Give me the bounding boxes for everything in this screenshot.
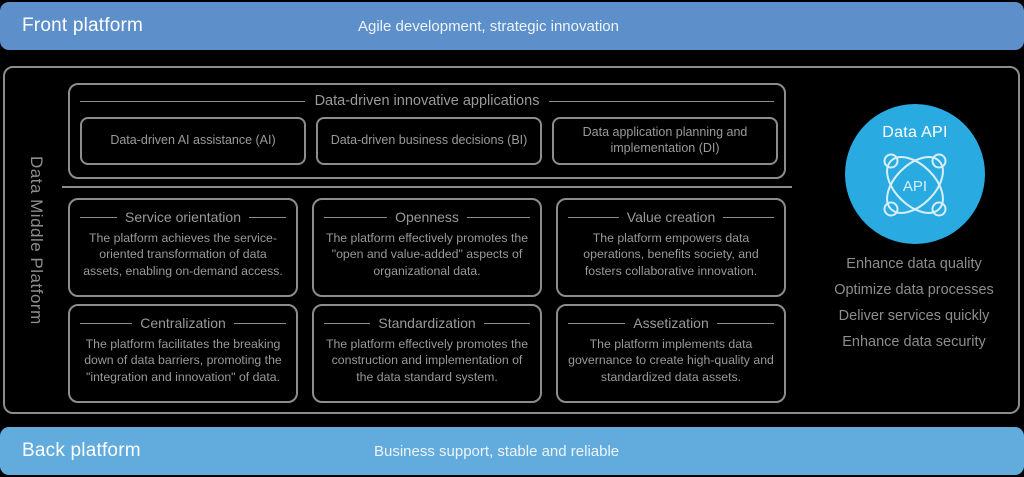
benefits-list: Enhance data quality Optimize data proce…: [800, 256, 1024, 350]
legend-rule-right: [234, 323, 286, 324]
application-card-di[interactable]: Data application planning and implementa…: [552, 117, 778, 165]
section-divider: [62, 186, 792, 188]
legend-rule-left: [80, 323, 132, 324]
front-platform-subtitle: Agile development, strategic innovation: [358, 18, 619, 35]
legend-rule-right: [467, 217, 530, 218]
legend-rule-left: [80, 101, 305, 102]
capability-description: The platform effectively promotes the co…: [324, 336, 530, 385]
capability-title: Openness: [395, 209, 459, 225]
legend-rule-left: [324, 323, 370, 324]
back-platform-title: Back platform: [0, 440, 141, 462]
capability-legend: Service orientation: [80, 209, 286, 225]
legend-rule-right: [484, 323, 530, 324]
capability-title: Assetization: [633, 315, 708, 331]
capability-card-centralization[interactable]: Centralization The platform facilitates …: [68, 304, 298, 403]
front-platform-bar: Front platform Agile development, strate…: [0, 2, 1024, 50]
capability-legend: Standardization: [324, 315, 530, 331]
capability-legend: Centralization: [80, 315, 286, 331]
innovative-applications-row: Data-driven AI assistance (AI) Data-driv…: [80, 117, 778, 165]
capability-description: The platform empowers data operations, b…: [568, 230, 774, 279]
innovative-applications-title: Data-driven innovative applications: [315, 93, 540, 109]
front-platform-title: Front platform: [0, 15, 143, 37]
api-orbit-icon: API: [873, 144, 957, 231]
capability-title: Service orientation: [125, 209, 241, 225]
application-card-ai[interactable]: Data-driven AI assistance (AI): [80, 117, 306, 165]
benefit-item-3: Deliver services quickly: [839, 308, 990, 324]
legend-rule-left: [80, 217, 117, 218]
capability-title: Value creation: [627, 209, 715, 225]
benefit-item-1: Enhance data quality: [846, 256, 981, 272]
capability-description: The platform implements data governance …: [568, 336, 774, 385]
capability-legend: Openness: [324, 209, 530, 225]
capability-card-grid: Service orientation The platform achieve…: [68, 198, 786, 403]
capability-title: Centralization: [140, 315, 226, 331]
legend-rule-right: [717, 323, 774, 324]
diagram-canvas: Front platform Agile development, strate…: [0, 0, 1024, 477]
legend-rule-left: [568, 323, 625, 324]
legend-rule-right: [723, 217, 774, 218]
legend-rule-left: [568, 217, 619, 218]
capability-title: Standardization: [378, 315, 475, 331]
capability-card-value-creation[interactable]: Value creation The platform empowers dat…: [556, 198, 786, 297]
innovative-applications-legend: Data-driven innovative applications: [80, 93, 774, 109]
data-api-circle[interactable]: Data API API: [845, 104, 985, 244]
legend-rule-right: [249, 217, 286, 218]
api-icon-label: API: [903, 178, 927, 195]
legend-rule-left: [324, 217, 387, 218]
capability-card-openness[interactable]: Openness The platform effectively promot…: [312, 198, 542, 297]
application-card-bi[interactable]: Data-driven business decisions (BI): [316, 117, 542, 165]
back-platform-subtitle: Business support, stable and reliable: [374, 443, 619, 460]
back-platform-bar: Back platform Business support, stable a…: [0, 427, 1024, 475]
innovative-applications-group: Data-driven innovative applications Data…: [68, 83, 786, 179]
benefit-item-4: Enhance data security: [842, 334, 985, 350]
data-api-title: Data API: [882, 124, 948, 142]
capability-card-standardization[interactable]: Standardization The platform effectively…: [312, 304, 542, 403]
legend-rule-right: [549, 101, 774, 102]
capability-description: The platform effectively promotes the "o…: [324, 230, 530, 279]
capability-legend: Value creation: [568, 209, 774, 225]
capability-description: The platform achieves the service-orient…: [80, 230, 286, 279]
capability-card-service-orientation[interactable]: Service orientation The platform achieve…: [68, 198, 298, 297]
capability-description: The platform facilitates the breaking do…: [80, 336, 286, 385]
benefit-item-2: Optimize data processes: [834, 282, 994, 298]
capability-legend: Assetization: [568, 315, 774, 331]
capability-card-assetization[interactable]: Assetization The platform implements dat…: [556, 304, 786, 403]
